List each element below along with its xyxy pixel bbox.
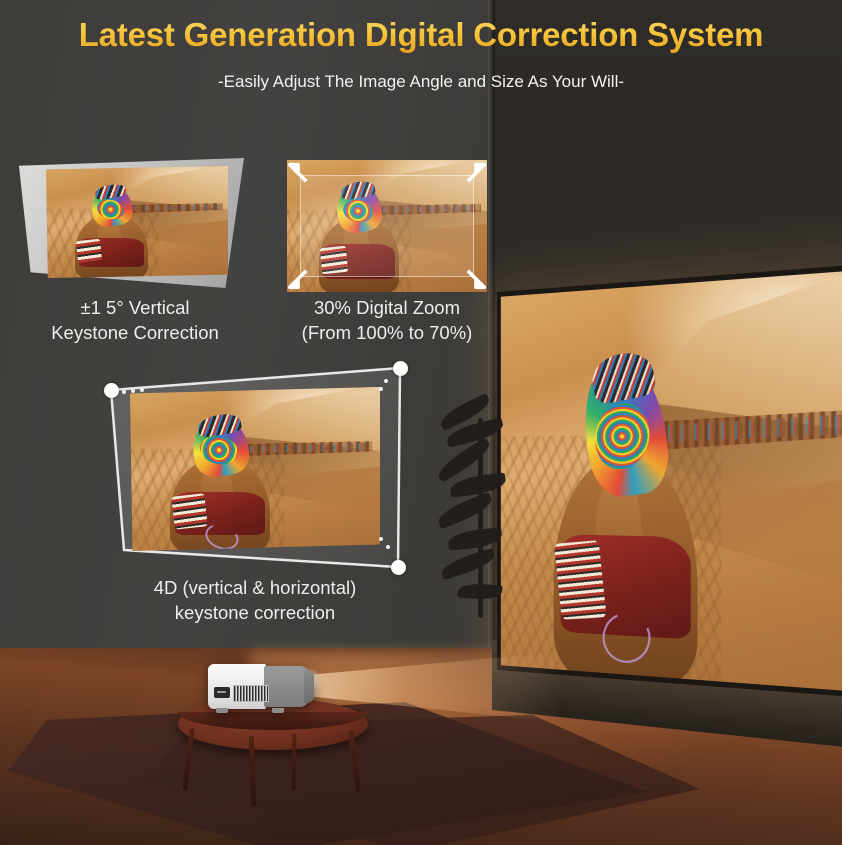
projector-end-cap <box>304 670 314 703</box>
feature-graphic-digital-zoom <box>287 160 487 292</box>
caption-line-2: (From 100% to 70%) <box>278 320 496 345</box>
zoom-arrow-bottom-right-icon <box>465 268 487 290</box>
caption-4d-keystone: 4D (vertical & horizontal) keystone corr… <box>95 575 415 625</box>
projection-screen <box>497 263 842 699</box>
plant-leaf <box>447 527 503 551</box>
projector-foot <box>216 708 228 713</box>
caption-digital-zoom: 30% Digital Zoom (From 100% to 70%) <box>278 295 496 345</box>
corner-handle-top-left[interactable] <box>104 383 119 398</box>
corner-handle-bottom-right[interactable] <box>391 560 406 575</box>
feature-graphic-vertical-keystone <box>12 158 244 288</box>
mini-desert-artwork <box>130 387 380 551</box>
zoom-arrow-top-right-icon <box>465 162 487 184</box>
zoom-arrow-top-left-icon <box>287 162 309 184</box>
projector-display-panel <box>214 687 230 698</box>
handle-trail-dot <box>122 390 126 394</box>
caption-vertical-keystone: ±1 5° Vertical Keystone Correction <box>10 295 260 345</box>
caption-line-1: 30% Digital Zoom <box>278 295 496 320</box>
feature-graphic-4d-keystone <box>98 363 410 573</box>
handle-trail-dot <box>131 389 135 393</box>
plant-silhouette <box>452 398 510 680</box>
mini-desert-artwork <box>46 166 228 278</box>
page-subtitle: -Easily Adjust The Image Angle and Size … <box>0 72 842 92</box>
saddle-blanket <box>76 239 102 264</box>
handle-trail-dot <box>384 379 388 383</box>
corner-handle-top-right[interactable] <box>393 361 408 376</box>
zoom-crop-region <box>301 176 473 276</box>
zoom-arrow-bottom-left-icon <box>287 268 309 290</box>
keystone-corrected-image <box>130 387 380 551</box>
caption-line-2: keystone correction <box>95 600 415 625</box>
projector-vent-grille <box>233 685 269 702</box>
caption-line-2: Keystone Correction <box>10 320 260 345</box>
saddle-blanket <box>554 540 607 619</box>
handle-trail-dot <box>140 388 144 392</box>
promo-banner: Latest Generation Digital Correction Sys… <box>0 0 842 845</box>
projector-device <box>208 661 312 711</box>
screen-artwork <box>501 269 842 693</box>
projector-rear-body <box>264 666 309 707</box>
projector-foot <box>272 708 284 713</box>
keystone-corrected-image <box>46 166 228 278</box>
plant-stem <box>478 418 483 618</box>
page-title: Latest Generation Digital Correction Sys… <box>0 16 842 54</box>
handle-trail-dot <box>379 537 383 541</box>
caption-line-1: 4D (vertical & horizontal) <box>95 575 415 600</box>
handle-trail-dot <box>386 545 390 549</box>
saddle-blanket <box>171 494 207 530</box>
caption-line-1: ±1 5° Vertical <box>10 295 260 320</box>
handle-trail-dot <box>379 387 383 391</box>
